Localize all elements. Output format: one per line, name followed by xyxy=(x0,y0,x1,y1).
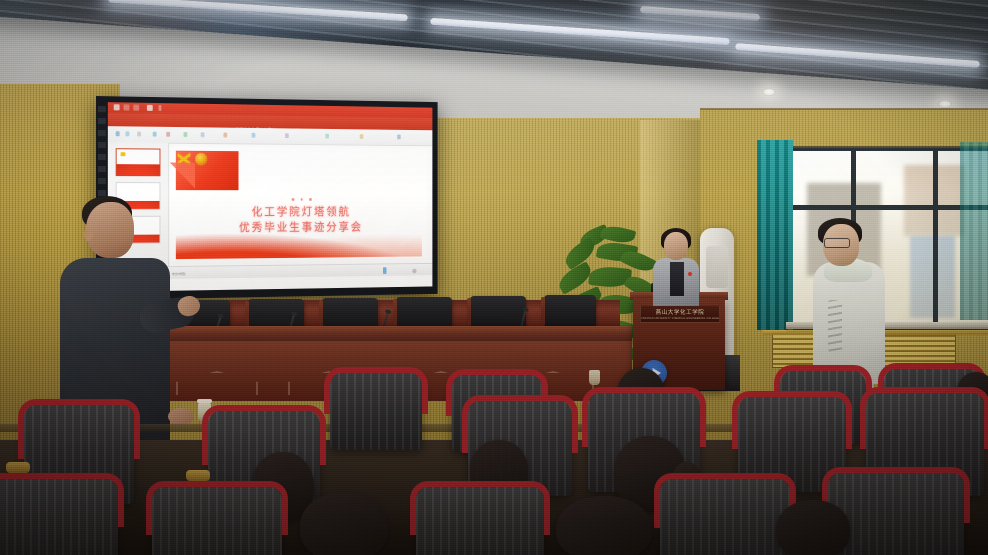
podium-name-cn: 燕山大学化工学院 xyxy=(656,308,705,316)
style-icon[interactable] xyxy=(360,134,364,139)
executive-chair xyxy=(544,295,596,329)
undo-icon[interactable] xyxy=(124,104,130,110)
auditorium-seat xyxy=(152,486,282,555)
speaker-head xyxy=(664,232,688,260)
podium-nameplate: 燕山大学化工学院 YANSHAN UNIVERSITY CHEMICAL ENG… xyxy=(640,305,720,323)
executive-chair xyxy=(470,296,526,330)
podium-name-en: YANSHAN UNIVERSITY CHEMICAL ENGINEERING … xyxy=(641,317,719,320)
speaker-lapel-badge xyxy=(688,272,692,276)
auditorium-seat xyxy=(828,472,964,555)
table-icon[interactable] xyxy=(223,133,227,138)
curtain-left-panel[interactable] xyxy=(757,140,793,330)
student-glasses xyxy=(824,238,850,248)
party-emblem-icon xyxy=(121,152,126,156)
thumbnail-red-wave xyxy=(117,164,160,175)
picture-icon[interactable] xyxy=(201,132,205,137)
present-icon[interactable] xyxy=(147,105,153,111)
student-sleeve-print xyxy=(828,300,842,352)
bullet-icon[interactable] xyxy=(166,132,170,137)
italic-icon[interactable] xyxy=(137,131,141,136)
chart-icon[interactable] xyxy=(252,133,256,138)
head-table-top xyxy=(142,326,632,342)
language-label: 中文(中国) xyxy=(172,272,185,276)
slide-corner-triangle xyxy=(170,162,195,188)
align-icon[interactable] xyxy=(153,132,157,137)
seat-armrest xyxy=(6,462,30,473)
auditorium-seat xyxy=(0,478,118,555)
chevron-down-icon[interactable] xyxy=(159,105,162,111)
font-icon[interactable] xyxy=(116,131,120,136)
seat-armrest xyxy=(186,470,210,481)
audience-head xyxy=(556,496,652,555)
recessed-downlight xyxy=(938,100,952,108)
presenter-ear xyxy=(84,228,93,241)
ppt-workspace: 化工学院灯塔领航 优秀毕业生事迹分享会 幻灯片 1/3 中文(中国) xyxy=(108,126,433,280)
arrange-icon[interactable] xyxy=(325,134,329,139)
volume-icon[interactable] xyxy=(383,267,387,274)
speaker-inner-top xyxy=(670,262,684,296)
presenter-hand-resting xyxy=(168,408,194,425)
zoom-control-icon[interactable] xyxy=(412,269,416,274)
shape-icon[interactable] xyxy=(184,132,188,137)
auditorium-seat xyxy=(416,486,544,555)
slide-canvas[interactable]: 化工学院灯塔领航 优秀毕业生事迹分享会 xyxy=(170,147,427,261)
redo-icon[interactable] xyxy=(133,105,139,111)
auditorium-seat xyxy=(660,478,790,555)
ac-vent xyxy=(706,246,728,288)
bold-icon[interactable] xyxy=(125,131,129,136)
auditorium-seat xyxy=(330,372,422,450)
recessed-downlight xyxy=(762,88,776,96)
youth-league-badge-icon xyxy=(195,153,207,166)
table-panel-chevron xyxy=(176,371,258,395)
presenter-head xyxy=(86,202,134,258)
find-icon[interactable] xyxy=(397,135,401,140)
window-mullion xyxy=(933,151,938,329)
paper-cup xyxy=(589,370,600,385)
audience-head xyxy=(300,492,388,555)
auditorium-photo: 优秀毕业生事迹分享会 - PowerPoint 文件 开始 插入 设计 切换 动… xyxy=(0,0,988,555)
slide-thumbnail[interactable] xyxy=(116,148,161,176)
save-icon[interactable] xyxy=(114,104,120,110)
audience-head xyxy=(776,500,850,555)
animation-icon[interactable] xyxy=(285,133,289,138)
window-mullion xyxy=(791,205,988,210)
curtain-right-panel[interactable] xyxy=(960,142,988,320)
